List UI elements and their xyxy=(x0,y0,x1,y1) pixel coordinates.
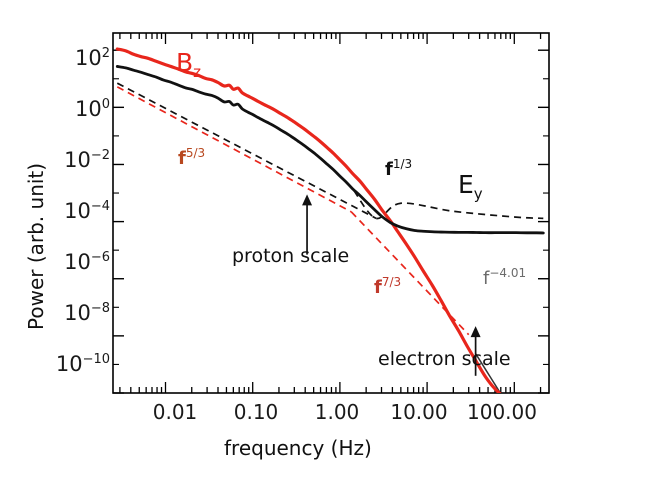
proton-scale-arrow-head xyxy=(302,194,312,205)
y-tick-label: 10−4 xyxy=(52,199,110,223)
y-tick-label: 10−6 xyxy=(52,250,110,274)
y-tick-exponent: 0 xyxy=(102,97,110,112)
x-tick-label: 0.10 xyxy=(216,400,296,424)
y-tick-exponent: −8 xyxy=(91,301,110,316)
power-law-label-7-3: f7/3 xyxy=(374,275,401,298)
x-tick-label: 0.01 xyxy=(135,400,215,424)
y-tick-exponent: −2 xyxy=(91,148,110,163)
x-tick-label: 1.00 xyxy=(297,400,377,424)
x-tick-label: 10.00 xyxy=(375,400,463,424)
y-tick-label: 102 xyxy=(62,46,110,70)
electron-scale-label: electron scale xyxy=(378,348,511,370)
series-f-1/3-fit xyxy=(354,191,543,219)
proton-scale-label: proton scale xyxy=(232,245,349,267)
y-tick-exponent: −4 xyxy=(91,199,110,214)
bz-subscript: z xyxy=(193,63,201,81)
y-tick-label: 10−10 xyxy=(44,352,110,376)
power-law-label-5-3: f5/3 xyxy=(178,146,205,169)
power-law-label-1-3: f1/3 xyxy=(385,157,412,180)
plot-frame xyxy=(113,33,549,393)
ey-subscript: y xyxy=(474,185,483,203)
power-law-label-4-01: f−4.01 xyxy=(483,266,526,289)
x-tick-label: 100.00 xyxy=(452,400,552,424)
y-tick-label: 100 xyxy=(62,97,110,121)
ey-series-label: Ey xyxy=(458,170,483,203)
electron-scale-arrow-head xyxy=(471,326,481,337)
power-spectrum-figure: 102 100 10−2 10−4 10−6 10−8 10−10 0.01 0… xyxy=(0,0,657,481)
y-tick-label: 10−2 xyxy=(52,148,110,172)
y-tick-label: 10−8 xyxy=(52,301,110,325)
y-axis-title: Power (arb. unit) xyxy=(24,163,48,330)
y-tick-exponent: 2 xyxy=(102,46,110,61)
x-axis-title: frequency (Hz) xyxy=(224,436,372,460)
bz-series-label: Bz xyxy=(176,48,201,81)
y-tick-exponent: −6 xyxy=(91,250,110,265)
y-tick-exponent: −10 xyxy=(83,352,110,367)
series-f-5/3-fit-black xyxy=(117,83,376,218)
